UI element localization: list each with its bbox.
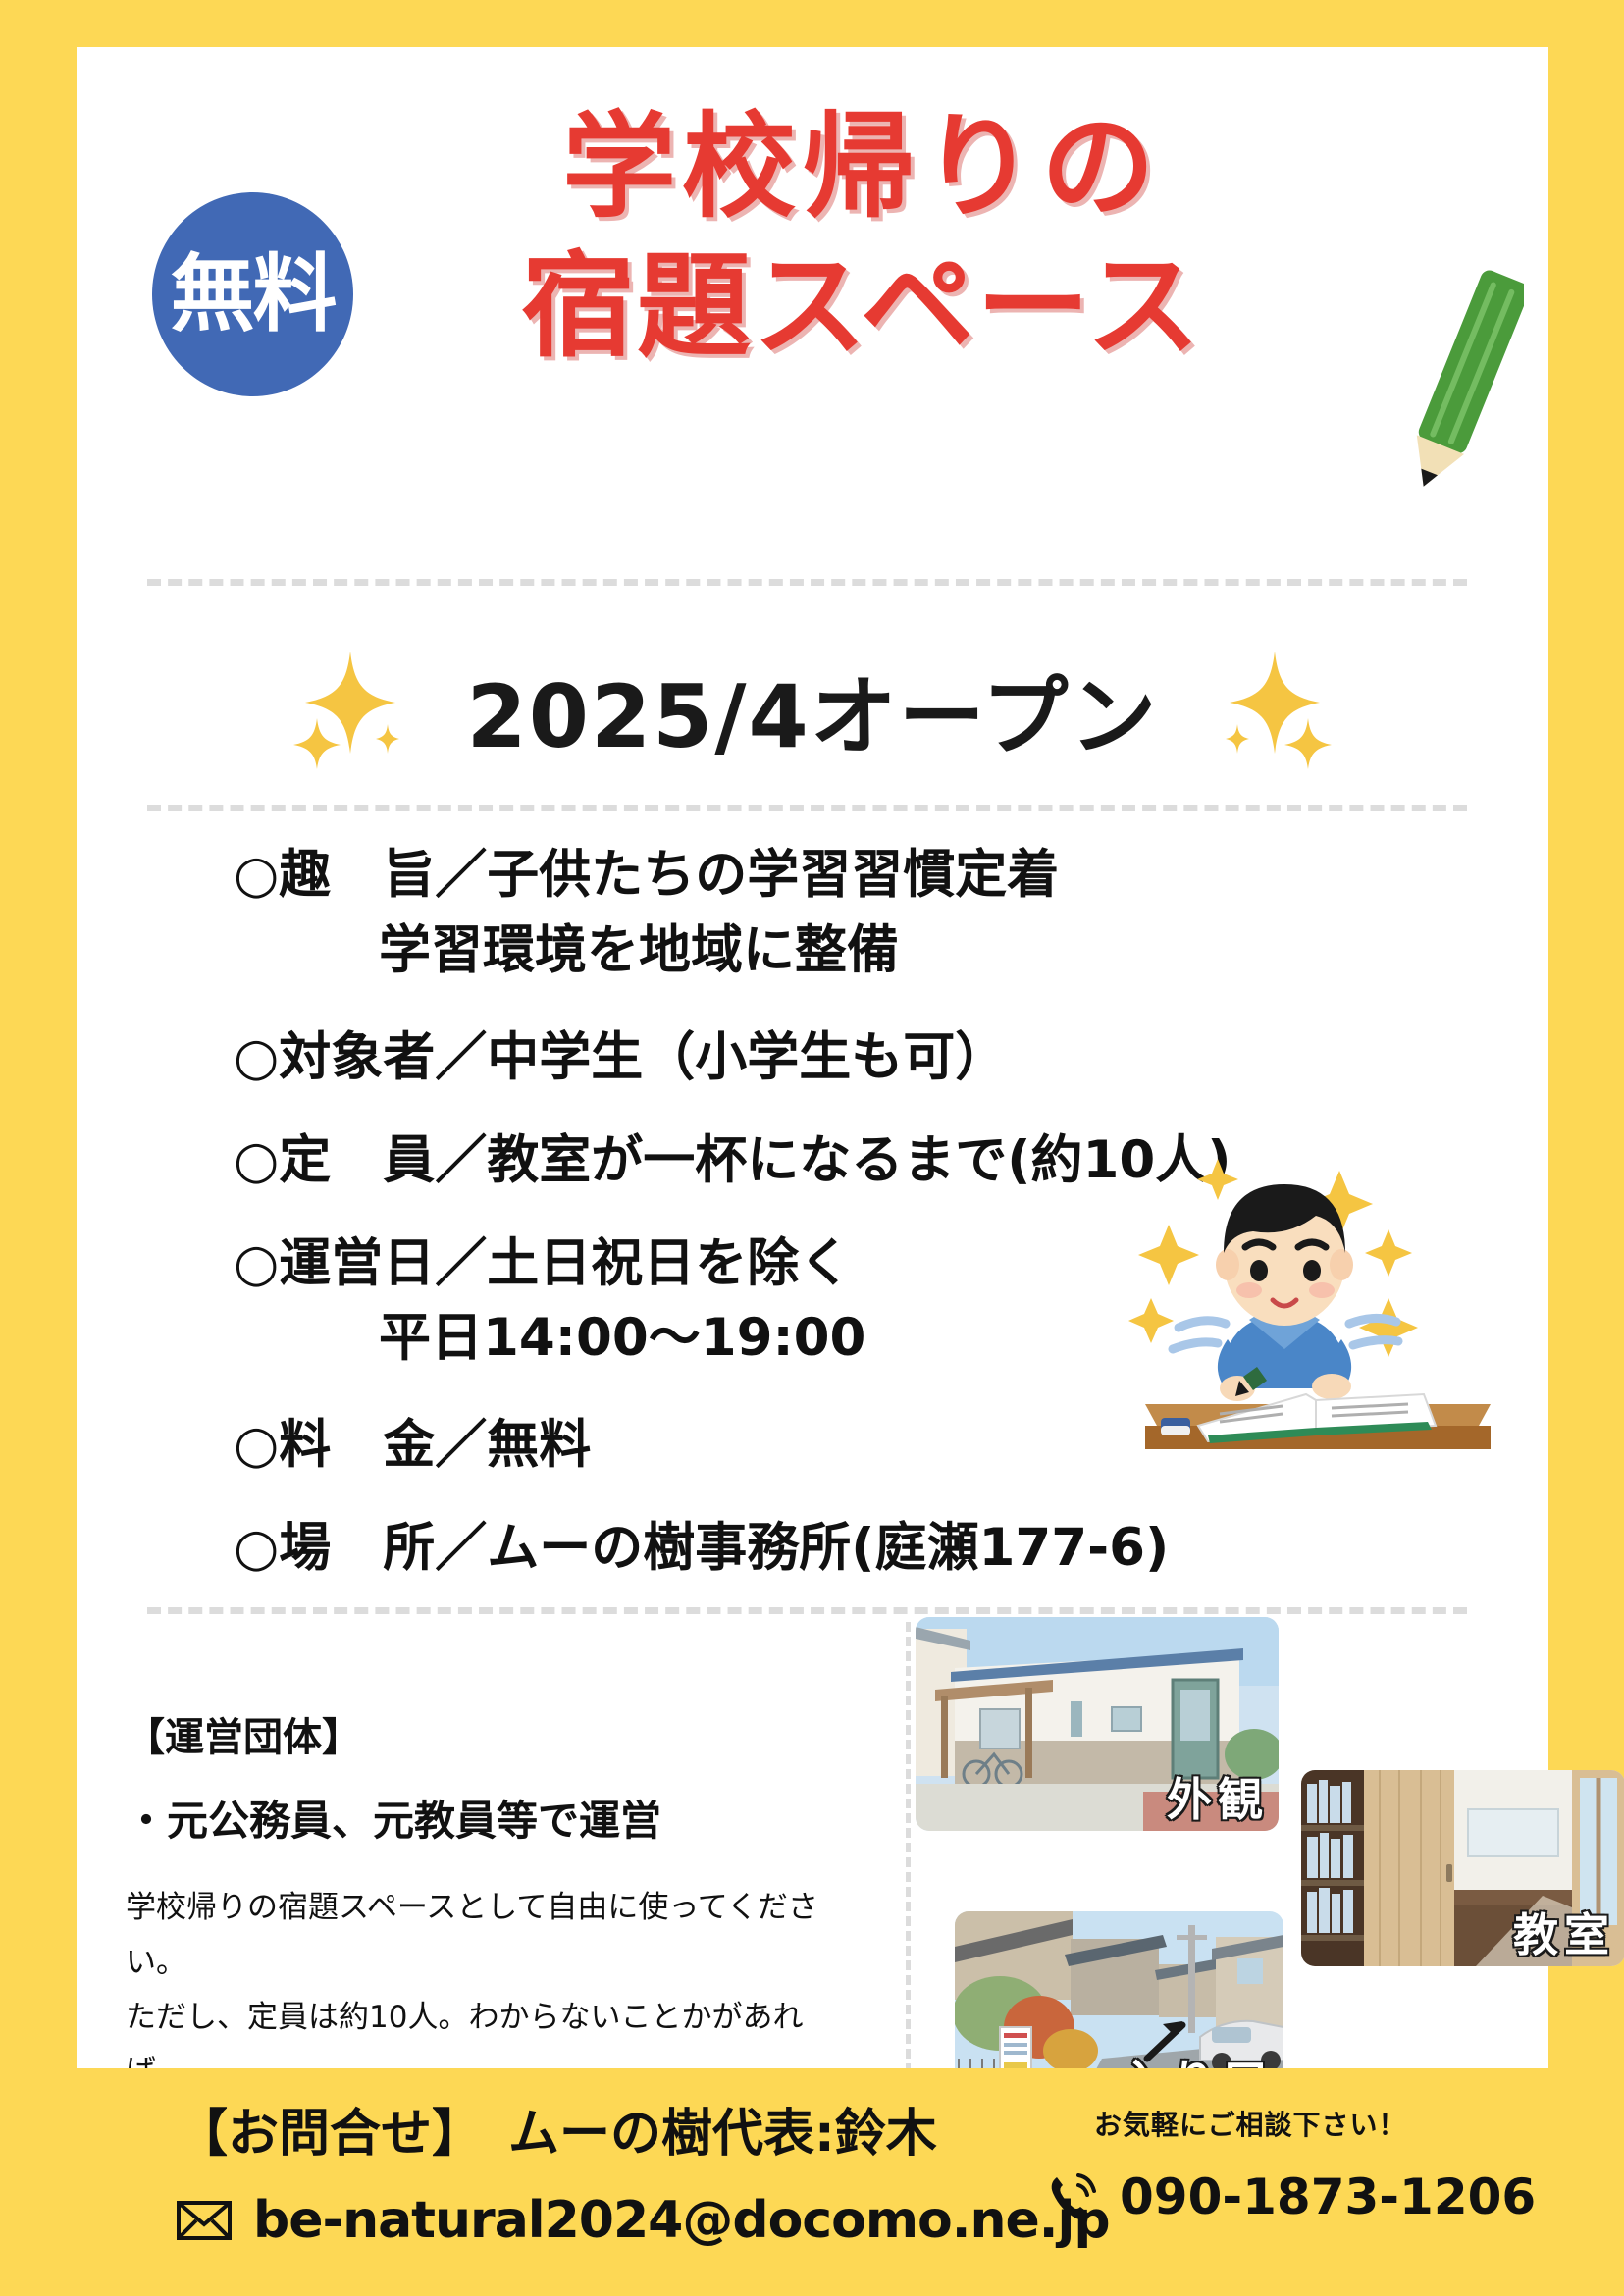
info-item-target: ○対象者／中学生（小学生も可） bbox=[234, 1024, 1470, 1092]
envelope-icon bbox=[177, 2201, 232, 2240]
phone-icon bbox=[1045, 2169, 1100, 2224]
footer-contact-left: 【お問合せ】 ムーの樹代表:鈴木 be-natural2024@docomo.n… bbox=[177, 2092, 1110, 2250]
title-line-2: 宿題スペース bbox=[400, 237, 1323, 377]
poster-title: 学校帰りの 宿題スペース bbox=[400, 98, 1323, 376]
info-item-place: ○場 所／ムーの樹事務所(庭瀬177-6) bbox=[234, 1515, 1470, 1583]
sparkle-icon bbox=[289, 646, 427, 773]
info-item-label: ○場 所／ムーの樹事務所(庭瀬177-6) bbox=[234, 1515, 1470, 1583]
title-line-1: 学校帰りの bbox=[400, 98, 1323, 237]
divider-vertical bbox=[906, 1622, 911, 2103]
organization-title: 【運営団体】 bbox=[126, 1705, 832, 1762]
info-item-purpose: ○趣 旨／子供たちの学習習慣定着 学習環境を地域に整備 bbox=[234, 842, 1470, 985]
classroom-photo-caption: 教室 bbox=[1513, 1900, 1615, 1964]
open-banner: 2025/4オープン bbox=[77, 636, 1548, 783]
open-date-text: 2025/4オープン bbox=[466, 648, 1158, 772]
divider-under-open bbox=[147, 805, 1467, 811]
sparkle-icon bbox=[1198, 646, 1336, 773]
email-address[interactable]: be-natural2024@docomo.ne.jp bbox=[253, 2191, 1110, 2250]
divider-bottom bbox=[147, 1607, 1467, 1614]
poster-root: 無料 学校帰りの 宿題スペース bbox=[0, 0, 1624, 2296]
info-item-sub: 学習環境を地域に整備 bbox=[234, 917, 1470, 985]
divider-top bbox=[147, 579, 1467, 586]
contact-heading: 【お問合せ】 ムーの樹代表:鈴木 bbox=[177, 2092, 1110, 2166]
main-white-panel: 無料 学校帰りの 宿題スペース bbox=[77, 47, 1548, 2068]
email-row: be-natural2024@docomo.ne.jp bbox=[177, 2191, 1110, 2250]
footer-contact-right: お気軽にご相談下さい！ 090-1873-1206 bbox=[1094, 2104, 1536, 2225]
exterior-photo: 外観 bbox=[916, 1617, 1279, 1831]
pencil-icon bbox=[1406, 261, 1524, 506]
poster-header: 無料 学校帰りの 宿題スペース bbox=[77, 47, 1548, 508]
exterior-photo-caption: 外観 bbox=[1167, 1764, 1269, 1829]
organization-subtitle: ・元公務員、元教員等で運営 bbox=[126, 1788, 832, 1848]
classroom-photo: 教室 bbox=[1301, 1770, 1624, 1966]
consult-note: お気軽にご相談下さい！ bbox=[1094, 2104, 1536, 2143]
poster-footer: 【お問合せ】 ムーの樹代表:鈴木 be-natural2024@docomo.n… bbox=[0, 2068, 1624, 2296]
studying-boy-illustration bbox=[1122, 1131, 1514, 1465]
info-item-label: ○趣 旨／子供たちの学習習慣定着 bbox=[234, 842, 1470, 910]
phone-row: 090-1873-1206 bbox=[1045, 2168, 1536, 2225]
organization-body-line-1: 学校帰りの宿題スペースとして自由に使ってください。 bbox=[126, 1881, 832, 1991]
info-item-label: ○対象者／中学生（小学生も可） bbox=[234, 1024, 1470, 1092]
free-badge: 無料 bbox=[152, 192, 353, 396]
phone-number[interactable]: 090-1873-1206 bbox=[1120, 2168, 1536, 2225]
free-badge-label: 無料 bbox=[171, 252, 336, 337]
